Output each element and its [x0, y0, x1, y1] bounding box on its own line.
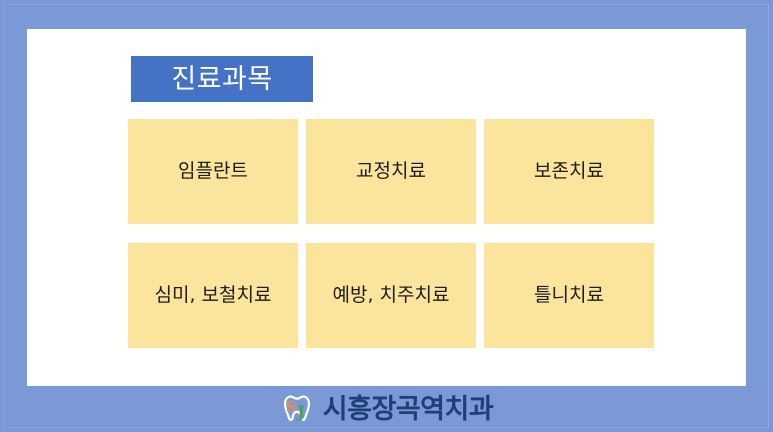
treatment-card-aesthetic-prosthetic[interactable]: 심미, 보철치료	[128, 243, 298, 348]
section-title-badge: 진료과목	[131, 56, 313, 102]
treatment-card-label: 교정치료	[356, 162, 426, 181]
treatment-card-label: 임플란트	[178, 162, 248, 181]
section-title-text: 진료과목	[171, 66, 272, 93]
svg-text:S: S	[285, 398, 296, 416]
treatment-card-grid: 임플란트 교정치료 보존치료 심미, 보철치료 예방, 치주치료 틀니치료	[128, 119, 655, 348]
treatment-card-label: 예방, 치주치료	[333, 286, 450, 305]
treatment-card-label: 틀니치료	[534, 286, 604, 305]
footer-brand-bar: S J 시흥장곡역치과	[0, 386, 773, 432]
treatment-card-denture[interactable]: 틀니치료	[484, 243, 654, 348]
treatment-card-conservative[interactable]: 보존치료	[484, 119, 654, 224]
slide-screen: 진료과목 임플란트 교정치료 보존치료 심미, 보철치료 예방, 치주치료 틀니…	[0, 0, 773, 432]
content-panel: 진료과목 임플란트 교정치료 보존치료 심미, 보철치료 예방, 치주치료 틀니…	[27, 29, 746, 386]
treatment-card-label: 보존치료	[534, 162, 604, 181]
brand-name-text: 시흥장곡역치과	[323, 396, 493, 423]
svg-text:J: J	[295, 402, 305, 421]
treatment-card-prevention-periodontal[interactable]: 예방, 치주치료	[306, 243, 476, 348]
treatment-card-implant[interactable]: 임플란트	[128, 119, 298, 224]
tooth-sj-logo-icon: S J	[280, 393, 314, 425]
treatment-card-label: 심미, 보철치료	[155, 286, 272, 305]
treatment-card-orthodontics[interactable]: 교정치료	[306, 119, 476, 224]
